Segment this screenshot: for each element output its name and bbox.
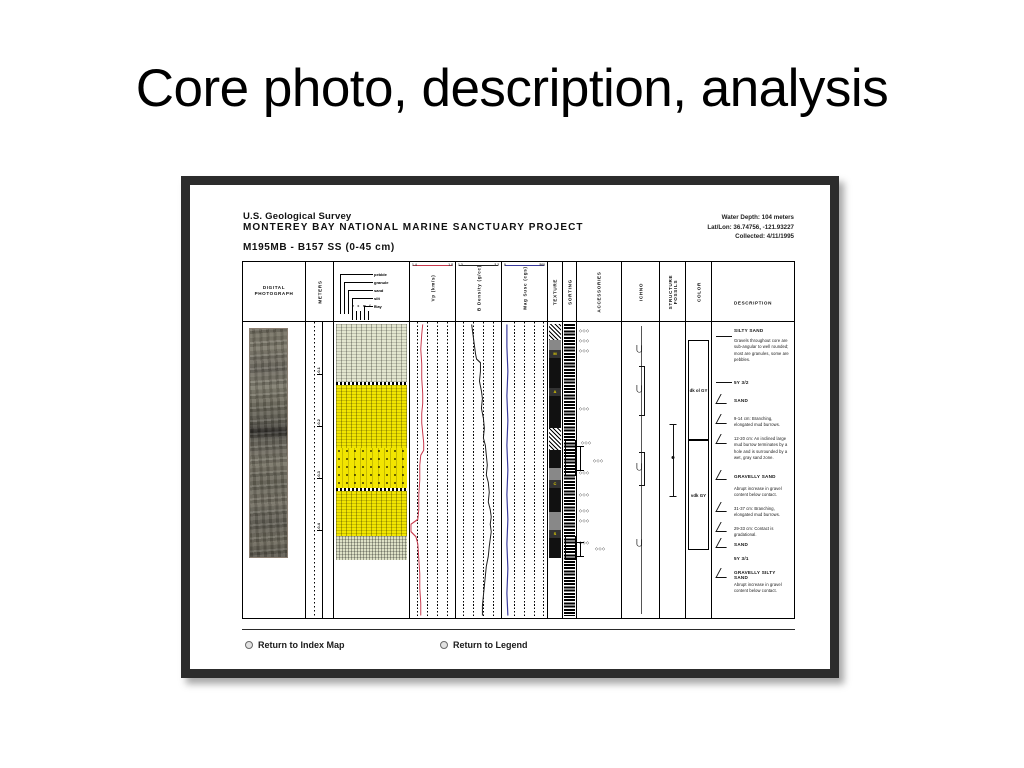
column-label-photo: DIGITAL PHOTOGRAPH [251, 285, 297, 299]
column-body-meters: -0.1 -0.2 -0.3 -0.4 [306, 322, 333, 618]
column-header-ichno: ICHNO [622, 262, 659, 322]
figure-frame: U.S. Geological Survey MONTEREY BAY NATI… [181, 176, 839, 678]
color-label-1: dk ol GY [690, 388, 708, 393]
grainsize-label-sand: sand [374, 288, 383, 293]
column-sorting: SORTING [563, 262, 577, 618]
lithology-band-sand-1 [336, 385, 407, 448]
column-label-ichno: ICHNO [638, 282, 643, 300]
vp-scale-min: 1.4 [412, 263, 417, 267]
color-label-2: vdk GY [691, 493, 706, 498]
core-log-table: DIGITAL PHOTOGRAPH METERS - [242, 261, 795, 619]
column-bulk-density: B Density (g/cc) 1.2 2.2 [456, 262, 502, 618]
agency-name: U.S. Geological Survey [243, 211, 351, 222]
column-header-accessories: ACCESSORIES [577, 262, 621, 322]
desc-entry-13: Abrupt increase in gravel content below … [734, 582, 790, 595]
column-body-texture: M A C S [548, 322, 562, 618]
collected-date: Collected: 4/11/1995 [707, 232, 794, 242]
column-body-magsusc [502, 322, 547, 618]
return-to-legend-label: Return to Legend [453, 640, 528, 650]
column-header-structure: STRUCTURE FOSSILS [660, 262, 685, 322]
column-label-accessories: ACCESSORIES [597, 271, 602, 312]
return-to-legend-button[interactable]: Return to Legend [440, 640, 528, 650]
grainsize-label-granule: granule [374, 280, 388, 285]
column-body-color: dk ol GY vdk GY [686, 322, 711, 618]
return-to-index-map-button[interactable]: Return to Index Map [245, 640, 345, 650]
column-body-sorting [563, 322, 576, 618]
grainsize-label-pebble: pebble [374, 272, 387, 277]
desc-entry-3: SAND [734, 398, 790, 403]
column-header-sorting: SORTING [563, 262, 576, 322]
color-block-2: vdk GY [688, 440, 709, 550]
core-photograph-image [249, 328, 288, 558]
desc-entry-10: SAND [734, 542, 790, 547]
column-body-ichno: ⋃ ⋃ ⋃ ⋃ [622, 322, 659, 618]
core-id: M195MB - B157 SS (0-45 cm) [243, 242, 395, 253]
column-body-accessories: ◇◇◇ ◇◇◇ ◇◇◇ ◇◇◇ ◇◇◇ ◇◇◇ ◇◇◇ ◇◇◇ ◇◇◇ ◇◇◇ … [577, 322, 621, 618]
desc-entry-8: 31-37 cm: Branching, elongated mud burro… [734, 506, 790, 519]
column-label-structure: STRUCTURE FOSSILS [668, 268, 678, 316]
lat-lon: Lat/Lon: 36.74756, -121.93227 [707, 223, 794, 233]
column-body-structure [660, 322, 685, 618]
column-label-vp: Vp (km/s) [430, 274, 435, 301]
column-label-magsusc: Mag Susc (cgs) [522, 266, 527, 310]
column-structure-fossils: STRUCTURE FOSSILS [660, 262, 686, 618]
magsusc-scale-max: 500 [539, 263, 545, 267]
column-label-color: COLOR [696, 281, 701, 301]
core-metadata: Water Depth: 104 meters Lat/Lon: 36.7475… [707, 213, 794, 242]
lithology-band-silty-sand [336, 324, 407, 382]
return-to-index-map-label: Return to Index Map [258, 640, 345, 650]
column-header-description: DESCRIPTION [712, 262, 794, 322]
column-label-sorting: SORTING [567, 279, 572, 305]
meters-axis-line [322, 322, 323, 618]
column-header-texture: TEXTURE [548, 262, 562, 322]
meters-dot-rule [314, 322, 315, 618]
vp-scale-max: 1.8 [448, 263, 453, 267]
lithology-band-gravelly-silty-sand [336, 536, 407, 560]
column-header-meters: METERS [306, 262, 333, 322]
column-label-texture: TEXTURE [553, 278, 558, 304]
project-title: MONTEREY BAY NATIONAL MARINE SANCTUARY P… [243, 222, 584, 233]
vp-curve [410, 322, 455, 618]
desc-entry-5: 12-20 cm: An inclined large mud burrow t… [734, 436, 790, 461]
desc-entry-0: SILTY SAND [734, 328, 790, 333]
core-log-sheet: U.S. Geological Survey MONTEREY BAY NATI… [190, 185, 830, 669]
column-header-density: B Density (g/cc) 1.2 2.2 [456, 262, 501, 322]
footer-divider [242, 629, 795, 630]
column-accessories: ACCESSORIES ◇◇◇ ◇◇◇ ◇◇◇ ◇◇◇ ◇◇◇ ◇◇◇ ◇◇◇ … [577, 262, 622, 618]
density-scale-max: 2.2 [494, 263, 499, 267]
desc-entry-1: Gravels throughout core are sub-angular … [734, 338, 790, 363]
grainsize-subdivisions: v c m f v [352, 304, 377, 308]
column-header-magsusc: Mag Susc (cgs) 0 500 [502, 262, 547, 322]
lithology-band-gravelly-sand [336, 448, 407, 488]
meters-tick-1: -0.1 [316, 367, 321, 374]
column-label-meters: METERS [317, 280, 322, 303]
column-header-grain-size: pebble granule sand silt clay [334, 262, 409, 322]
page-title: Core photo, description, analysis [0, 58, 1024, 119]
desc-entry-4: 9-14 cm: Branching, elongated mud burrow… [734, 416, 790, 429]
column-body-vp [410, 322, 455, 618]
column-digital-photograph: DIGITAL PHOTOGRAPH [243, 262, 306, 618]
desc-entry-11: 5Y 3/1 [734, 556, 790, 561]
column-label-density: B Density (g/cc) [476, 265, 481, 311]
magsusc-curve [502, 322, 547, 618]
radio-circle-icon[interactable] [245, 641, 253, 649]
column-label-description: DESCRIPTION [734, 301, 772, 308]
column-body-density [456, 322, 501, 618]
desc-entry-12: GRAVELLY SILTY SAND [734, 570, 790, 580]
grainsize-label-silt: silt [374, 296, 380, 301]
desc-entry-9: 29-33 cm: Contact is gradational. [734, 526, 790, 539]
burrow-symbol-2: ⋃ [636, 384, 643, 393]
column-body-lithology [334, 322, 409, 618]
magsusc-scale-min: 0 [504, 263, 506, 267]
column-body-photo [243, 322, 305, 618]
column-header-photo: DIGITAL PHOTOGRAPH [243, 262, 305, 322]
burrow-symbol-3: ⋃ [636, 462, 643, 471]
column-description: DESCRIPTION SILTY SAND Gravels throughou… [712, 262, 794, 618]
color-block-1: dk ol GY [688, 340, 709, 440]
column-lithology: pebble granule sand silt clay [334, 262, 410, 618]
burrow-symbol-1: ⋃ [636, 344, 643, 353]
column-meters: METERS -0.1 -0.2 -0.3 -0.4 [306, 262, 334, 618]
column-body-description: SILTY SAND Gravels throughout core are s… [712, 322, 794, 618]
column-texture: TEXTURE M A C S [548, 262, 563, 618]
meters-tick-4: -0.4 [316, 523, 321, 530]
column-color: COLOR dk ol GY vdk GY [686, 262, 712, 618]
desc-entry-2: 5Y 3/2 [734, 380, 790, 385]
column-ichno: ICHNO ⋃ ⋃ ⋃ ⋃ [622, 262, 660, 618]
column-mag-susc: Mag Susc (cgs) 0 500 [502, 262, 548, 618]
column-header-vp: Vp (km/s) 1.4 1.8 [410, 262, 455, 322]
burrow-symbol-4: ⋃ [636, 538, 643, 547]
density-scale-min: 1.2 [458, 263, 463, 267]
meters-tick-2: -0.2 [316, 419, 321, 426]
desc-entry-7: Abrupt increase in gravel content below … [734, 486, 790, 499]
meters-tick-3: -0.3 [316, 471, 321, 478]
lithology-band-sand-2 [336, 491, 407, 536]
water-depth: Water Depth: 104 meters [707, 213, 794, 223]
column-header-color: COLOR [686, 262, 711, 322]
density-curve [456, 322, 501, 618]
radio-circle-icon[interactable] [440, 641, 448, 649]
column-vp: Vp (km/s) 1.4 1.8 [410, 262, 456, 618]
desc-entry-6: GRAVELLY SAND [734, 474, 790, 479]
